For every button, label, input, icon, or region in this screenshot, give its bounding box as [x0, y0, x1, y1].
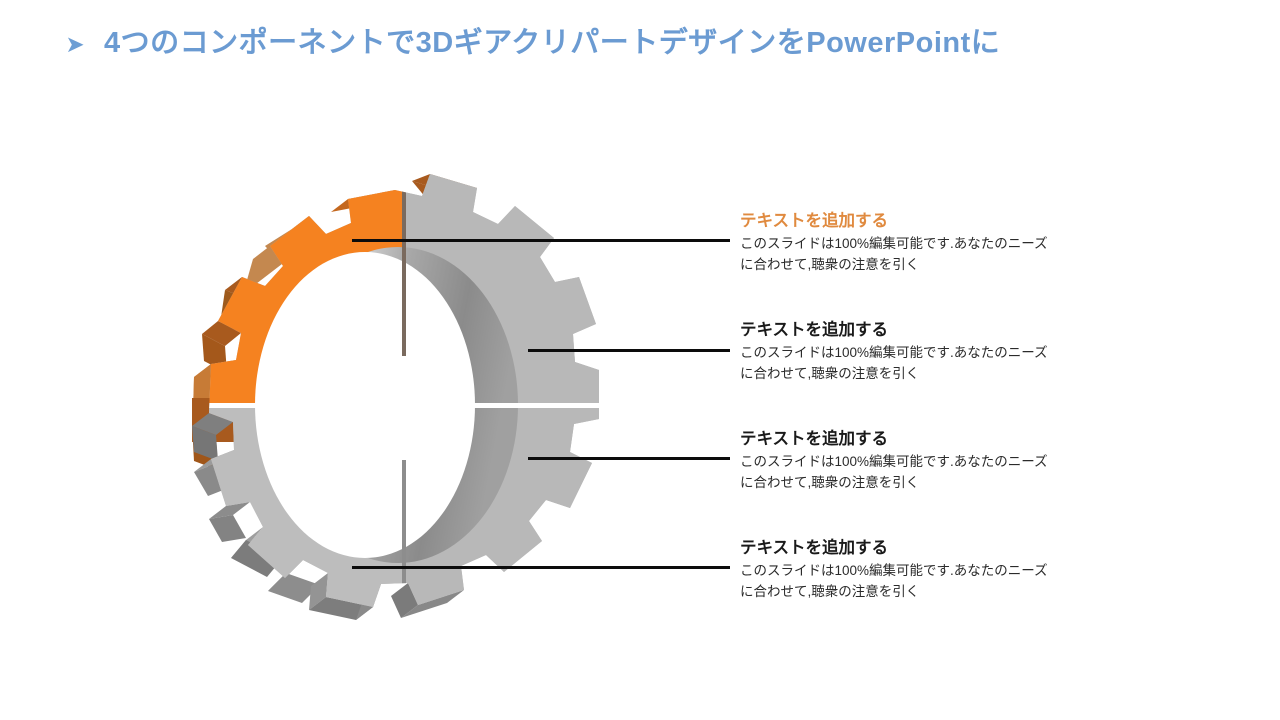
callout-3[interactable]: テキストを追加する このスライドは100%編集可能です.あなたのニーズに合わせて… — [740, 428, 1070, 494]
callout-2-title: テキストを追加する — [740, 319, 1070, 341]
gear-svg — [130, 160, 630, 650]
arrow-bullet-icon: ➤ — [62, 30, 88, 58]
callout-4-body: このスライドは100%編集可能です.あなたのニーズに合わせて,聴衆の注意を引く — [740, 561, 1058, 603]
page-title: ➤ 4つのコンポーネントで3DギアクリパートデザインをPowerPointに — [62, 28, 1000, 60]
callout-1-title: テキストを追加する — [740, 210, 1070, 232]
callout-4-title: テキストを追加する — [740, 537, 1070, 559]
callout-3-body: このスライドは100%編集可能です.あなたのニーズに合わせて,聴衆の注意を引く — [740, 452, 1058, 494]
callout-1-body: このスライドは100%編集可能です.あなたのニーズに合わせて,聴衆の注意を引く — [740, 234, 1058, 276]
callout-3-title: テキストを追加する — [740, 428, 1070, 450]
callout-2-body: このスライドは100%編集可能です.あなたのニーズに合わせて,聴衆の注意を引く — [740, 343, 1058, 385]
page-title-text: 4つのコンポーネントで3DギアクリパートデザインをPowerPointに — [104, 28, 1000, 60]
slide-canvas: ➤ 4つのコンポーネントで3DギアクリパートデザインをPowerPointに — [0, 0, 1280, 720]
gear-illustration — [130, 160, 630, 650]
callout-2[interactable]: テキストを追加する このスライドは100%編集可能です.あなたのニーズに合わせて… — [740, 319, 1070, 385]
callout-1[interactable]: テキストを追加する このスライドは100%編集可能です.あなたのニーズに合わせて… — [740, 210, 1070, 276]
callout-4[interactable]: テキストを追加する このスライドは100%編集可能です.あなたのニーズに合わせて… — [740, 537, 1070, 603]
